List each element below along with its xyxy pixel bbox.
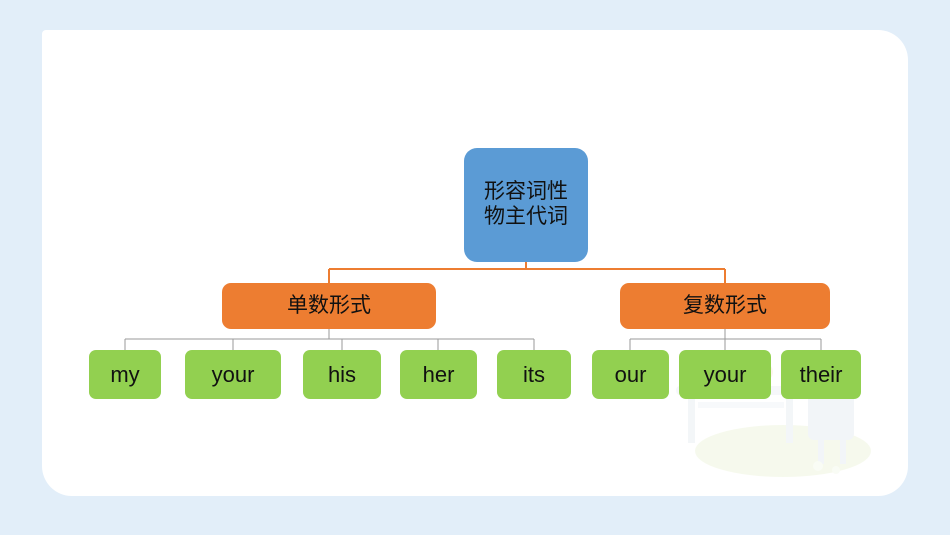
leaf-node-their[interactable]: their bbox=[781, 350, 861, 399]
leaf-node-your-singular[interactable]: your bbox=[185, 350, 281, 399]
root-node-adjective-possessive-pronoun[interactable]: 形容词性 物主代词 bbox=[464, 148, 588, 262]
leaf-node-her[interactable]: her bbox=[400, 350, 477, 399]
leaf-node-our[interactable]: our bbox=[592, 350, 669, 399]
leaf-node-my[interactable]: my bbox=[89, 350, 161, 399]
pronoun-hierarchy-diagram: 形容词性 物主代词 单数形式 复数形式 my your his her its … bbox=[0, 0, 950, 535]
leaf-node-his[interactable]: his bbox=[303, 350, 381, 399]
leaf-node-your-plural[interactable]: your bbox=[679, 350, 771, 399]
diagram-connector-lines bbox=[0, 0, 950, 535]
branch-node-plural-form[interactable]: 复数形式 bbox=[620, 283, 830, 329]
leaf-node-its[interactable]: its bbox=[497, 350, 571, 399]
branch-node-singular-form[interactable]: 单数形式 bbox=[222, 283, 436, 329]
